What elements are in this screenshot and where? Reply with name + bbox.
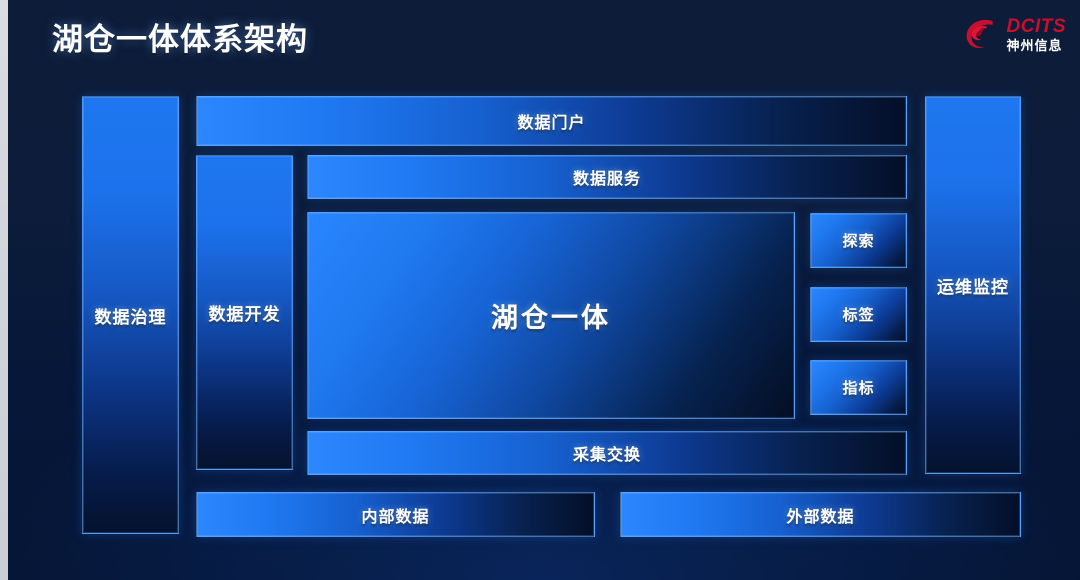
bar-external-data-label: 外部数据	[786, 503, 854, 527]
bar-external-data[interactable]: 外部数据	[620, 492, 1021, 537]
bar-data-service[interactable]: 数据服务	[307, 155, 907, 199]
slide-canvas: 湖仓一体体系架构 DCITS 神州信息 数据治理 数据开发 运维监控 数据门户 …	[0, 0, 1080, 580]
bar-internal-data[interactable]: 内部数据	[196, 492, 595, 537]
dcits-swirl-icon	[963, 15, 1001, 53]
column-ops-monitoring-label: 运维监控	[937, 273, 1009, 298]
slide-header: 湖仓一体体系架构 DCITS 神州信息	[0, 0, 1080, 88]
column-data-development-label: 数据开发	[209, 300, 281, 325]
logo-chinese: 神州信息	[1007, 39, 1067, 52]
bar-data-portal[interactable]: 数据门户	[196, 96, 907, 146]
chip-metric-label: 指标	[842, 377, 874, 398]
column-data-development[interactable]: 数据开发	[196, 155, 293, 470]
chip-explore[interactable]: 探索	[810, 213, 907, 268]
bar-data-portal-label: 数据门户	[517, 109, 585, 133]
bar-internal-data-label: 内部数据	[361, 503, 429, 527]
bar-collect-exchange[interactable]: 采集交换	[307, 431, 907, 475]
column-data-governance-label: 数据治理	[95, 303, 167, 328]
logo-wordmark: DCITS 神州信息	[1007, 17, 1067, 52]
bar-collect-exchange-label: 采集交换	[573, 441, 641, 465]
brand-logo: DCITS 神州信息	[963, 12, 1067, 56]
column-ops-monitoring[interactable]: 运维监控	[925, 96, 1021, 474]
chip-tag[interactable]: 标签	[810, 287, 907, 342]
column-data-governance[interactable]: 数据治理	[82, 96, 179, 534]
chip-explore-label: 探索	[842, 230, 874, 251]
bar-data-service-label: 数据服务	[573, 165, 641, 189]
chip-metric[interactable]: 指标	[810, 360, 907, 415]
hero-lakehouse[interactable]: 湖仓一体	[307, 212, 795, 419]
logo-english: DCITS	[1007, 17, 1067, 36]
chip-tag-label: 标签	[842, 304, 874, 325]
page-title: 湖仓一体体系架构	[52, 14, 308, 59]
hero-lakehouse-label: 湖仓一体	[491, 296, 611, 335]
